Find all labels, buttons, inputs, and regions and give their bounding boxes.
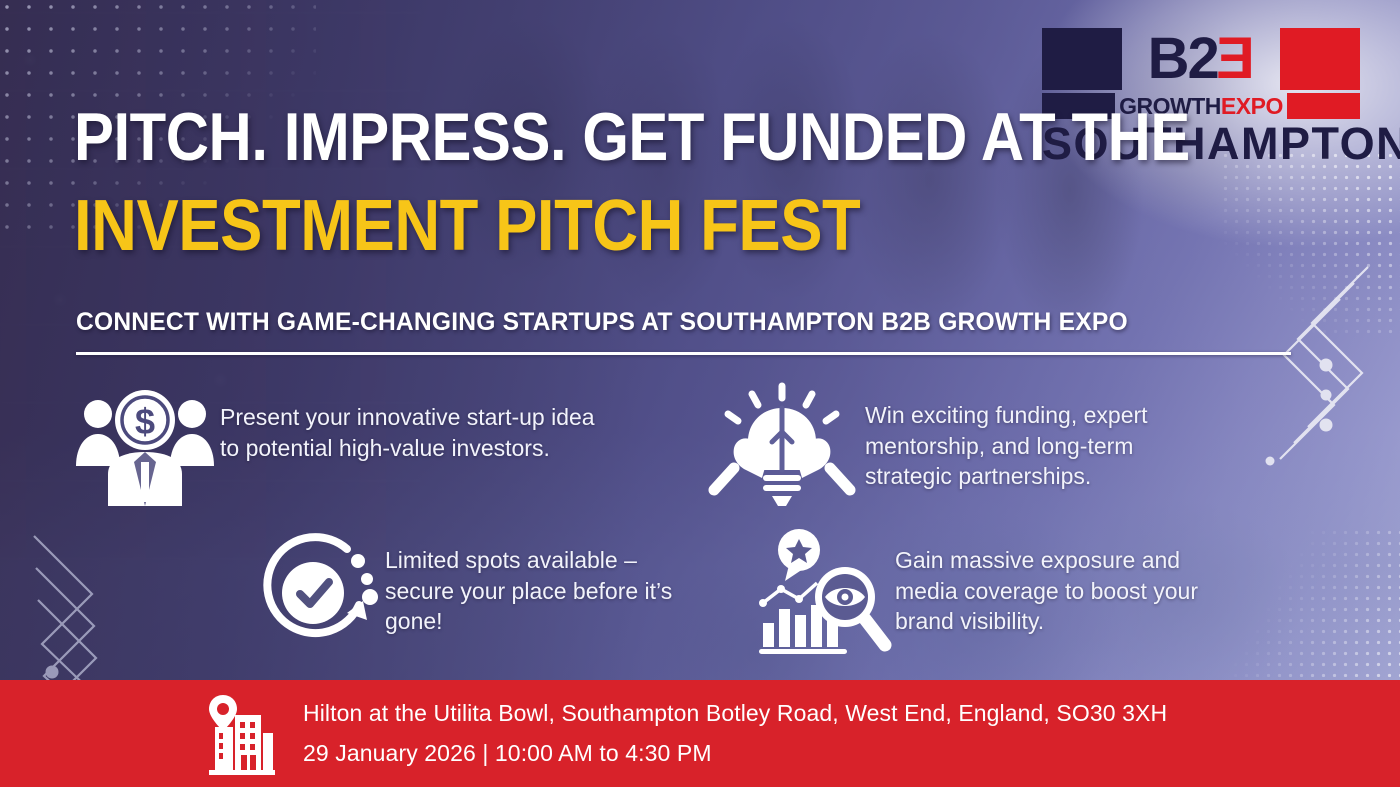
horizontal-divider [76, 352, 1291, 355]
logo-navy-block-left [1042, 28, 1122, 90]
feature-text-exposure: Gain massive exposure and media coverage… [895, 527, 1205, 637]
logo-letter-b: B [1148, 30, 1188, 88]
logo-top-row: B2E [1042, 28, 1360, 90]
feature-text-limited-spots: Limited spots available – secure your pl… [385, 527, 685, 637]
checkmark-circle-arrow-icon [255, 527, 385, 657]
investors-group-dollar-icon: $ [70, 388, 220, 508]
event-details-footer: Hilton at the Utilita Bowl, Southampton … [0, 680, 1400, 787]
logo-red-block-right-2 [1287, 93, 1360, 119]
headline-line-1: PITCH. IMPRESS. GET FUNDED AT THE [74, 104, 963, 171]
subheadline: CONNECT WITH GAME-CHANGING STARTUPS AT S… [76, 308, 1273, 337]
bar-chart-magnifier-eye-icon [755, 527, 895, 657]
feature-text-funding: Win exciting funding, expert mentorship,… [865, 380, 1225, 492]
feature-item-funding: Win exciting funding, expert mentorship,… [700, 380, 1300, 515]
event-details-text: Hilton at the Utilita Bowl, Southampton … [303, 701, 1167, 766]
logo-red-block-right [1280, 28, 1360, 90]
logo-b2e-wordmark: B2E [1126, 28, 1276, 90]
location-pin-buildings-icon [207, 693, 277, 775]
hands-holding-lightbulb-icon [700, 380, 865, 515]
logo-letter-e-reversed: E [1218, 30, 1255, 88]
headline-block: PITCH. IMPRESS. GET FUNDED AT THE INVEST… [74, 104, 1084, 261]
logo-digit-2: 2 [1187, 30, 1217, 88]
feature-item-exposure: Gain massive exposure and media coverage… [755, 527, 1275, 657]
headline-line-2: INVESTMENT PITCH FEST [74, 191, 963, 262]
feature-item-investors: $ Present your innovative start-up idea … [70, 388, 690, 508]
logo-wordmark-area: B2E [1126, 28, 1276, 90]
event-promo-banner: B2E GROWTHEXPO SOUTHAMPTON PITCH. IMPRES… [0, 0, 1400, 787]
logo-expo-text: EXPO [1221, 95, 1283, 118]
feature-text-investors: Present your innovative start-up idea to… [220, 388, 620, 463]
feature-item-limited-spots: Limited spots available – secure your pl… [255, 527, 725, 657]
venue-address: Hilton at the Utilita Bowl, Southampton … [303, 701, 1167, 726]
svg-text:$: $ [135, 401, 155, 442]
event-datetime: 29 January 2026 | 10:00 AM to 4:30 PM [303, 741, 1167, 766]
